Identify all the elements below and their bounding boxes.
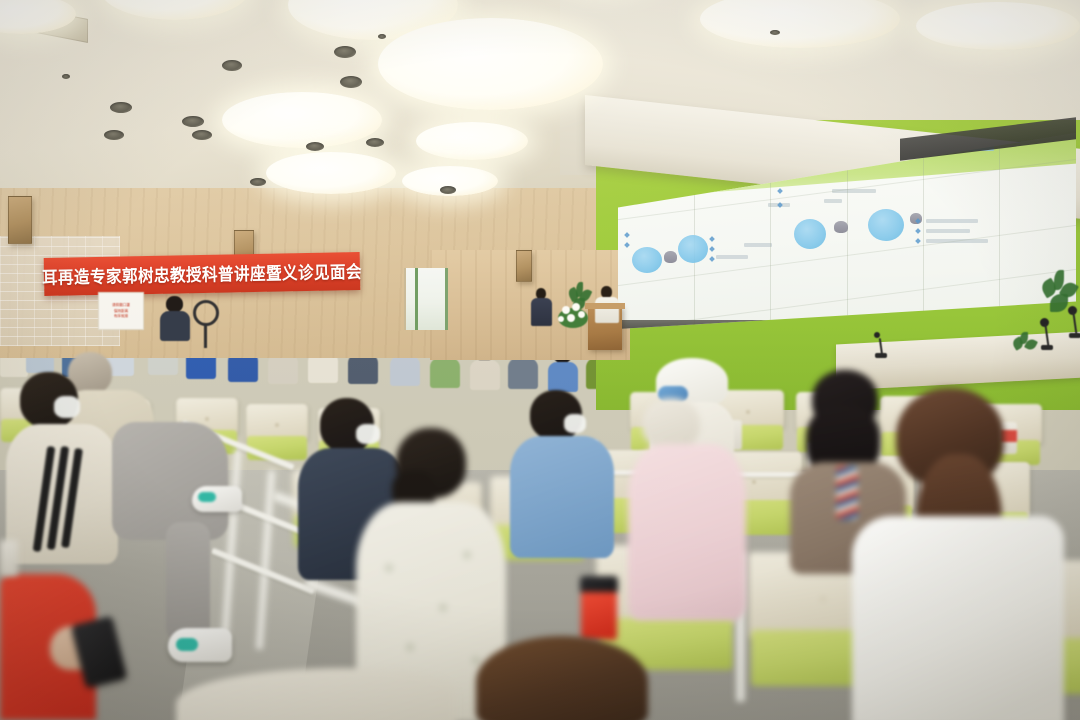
host-torso <box>531 298 552 326</box>
torso <box>160 311 190 341</box>
ceiling-panel-light <box>266 152 396 194</box>
doorway-frame <box>415 268 418 330</box>
shoulder <box>176 668 456 720</box>
gooseneck-microphone-3 <box>872 332 890 360</box>
led-tile-seam <box>999 133 1000 329</box>
torso <box>628 444 746 620</box>
wall-speaker-left <box>8 196 32 244</box>
photographer <box>160 296 190 340</box>
slide-bullet-marker <box>915 238 921 244</box>
recessed-downlight <box>378 34 386 39</box>
slide-bullet-marker <box>915 228 921 234</box>
slide-label <box>716 255 748 259</box>
ring-light-pole <box>204 324 207 348</box>
sneaker-teal-accent <box>198 492 216 502</box>
event-banner-text: 耳再造专家郭树忠教授科普讲座暨义诊见面会 <box>42 259 362 290</box>
recessed-downlight <box>62 74 70 79</box>
foreground-person-striped-jacket <box>6 372 118 562</box>
microphone-base <box>875 353 887 358</box>
notice-sign: 请佩戴口罩 保持距离 有序就座 <box>98 292 144 330</box>
red-thermos <box>578 576 620 638</box>
ring-light-ring <box>193 300 219 326</box>
head <box>476 636 648 720</box>
recessed-downlight <box>770 30 780 35</box>
slide-diagram-circle <box>868 209 904 241</box>
lower-leg <box>166 522 210 642</box>
foreground-person-bottom-center <box>476 636 656 720</box>
recessed-downlight <box>222 60 242 71</box>
recessed-downlight <box>104 130 124 140</box>
torso <box>508 358 538 389</box>
slide-bullet-marker <box>709 256 715 262</box>
water-bottle <box>0 540 18 576</box>
gooseneck-microphone-2 <box>1066 306 1080 340</box>
presenter-torso <box>595 297 619 323</box>
torso <box>268 354 298 384</box>
torso <box>852 516 1064 720</box>
notice-sign-line-1: 请佩戴口罩 <box>112 303 130 307</box>
slide-bullet-marker <box>624 242 630 248</box>
microphone-base <box>1069 333 1080 338</box>
slide-diagram-circle <box>632 247 662 273</box>
slide-label <box>744 243 772 247</box>
podium-top-surface <box>585 303 625 309</box>
recessed-downlight <box>366 138 384 147</box>
slide-bullet-marker <box>624 232 630 238</box>
led-tile-seam <box>923 133 924 329</box>
slide-label <box>926 229 970 233</box>
foreground-person-red-top <box>0 574 130 720</box>
flower-bloom <box>562 306 570 314</box>
notice-sign-line-2: 保持距离 <box>114 309 128 313</box>
torso <box>470 360 500 390</box>
presenter-at-podium <box>594 286 620 332</box>
legs <box>112 422 228 540</box>
flower-bloom <box>558 316 564 322</box>
head <box>166 296 183 312</box>
microphone-base <box>1041 345 1053 350</box>
flower-bloom <box>572 303 580 311</box>
foreground-shoulder-bottom-left <box>176 668 456 720</box>
slide-bullet-marker <box>709 246 715 252</box>
rear-doorway <box>404 268 448 330</box>
slide-diagram-circle <box>678 235 708 263</box>
slide-head-silhouette <box>664 251 677 263</box>
ring-light-stand <box>190 300 222 348</box>
host-standing <box>531 288 553 334</box>
recessed-downlight <box>334 46 356 58</box>
foreground-person-white-shirt-ponytail <box>852 388 1064 720</box>
foreground-person-pink-cardigan <box>628 398 746 618</box>
flower-bloom <box>567 314 575 322</box>
flower-bloom <box>578 311 585 318</box>
face-mask <box>564 414 586 433</box>
ceiling-panel-light <box>378 18 603 110</box>
recessed-downlight <box>250 178 266 186</box>
torso <box>390 356 420 386</box>
torso <box>348 354 378 384</box>
slide-diagram-circle <box>794 219 826 249</box>
foreground-person-gray-trousers <box>112 422 242 652</box>
recessed-downlight <box>340 76 362 88</box>
slide-label <box>824 199 842 203</box>
sneaker-teal-accent <box>176 638 198 651</box>
torso <box>510 436 614 558</box>
event-banner: 耳再造专家郭树忠教授科普讲座暨义诊见面会 <box>44 252 361 296</box>
auditorium-photo: 耳再造专家郭树忠教授科普讲座暨义诊见面会 请佩戴口罩 保持距离 有序就座 <box>0 0 1080 720</box>
face-mask <box>54 396 80 418</box>
gooseneck-microphone-1 <box>1038 318 1056 352</box>
slide-head-silhouette <box>834 221 848 233</box>
slide-bullet-marker <box>709 236 715 242</box>
recessed-downlight <box>192 130 212 140</box>
torso <box>430 358 460 388</box>
torso <box>548 362 578 392</box>
ceiling-panel-light <box>916 2 1080 50</box>
slide-bullet-marker <box>777 188 783 194</box>
recessed-downlight <box>440 186 456 194</box>
recessed-downlight <box>110 102 132 113</box>
thermos-body <box>581 592 617 640</box>
wall-speaker-far <box>516 250 532 282</box>
slide-label <box>926 219 978 223</box>
head <box>642 398 700 450</box>
recessed-downlight <box>182 116 204 127</box>
potted-plant-desk <box>1012 332 1038 358</box>
recessed-downlight <box>306 142 324 151</box>
notice-sign-line-3: 有序就座 <box>114 314 128 318</box>
foreground-person-blue-shirt <box>510 390 614 556</box>
ceiling-panel-light <box>222 92 382 148</box>
ceiling-panel-light <box>416 122 528 160</box>
